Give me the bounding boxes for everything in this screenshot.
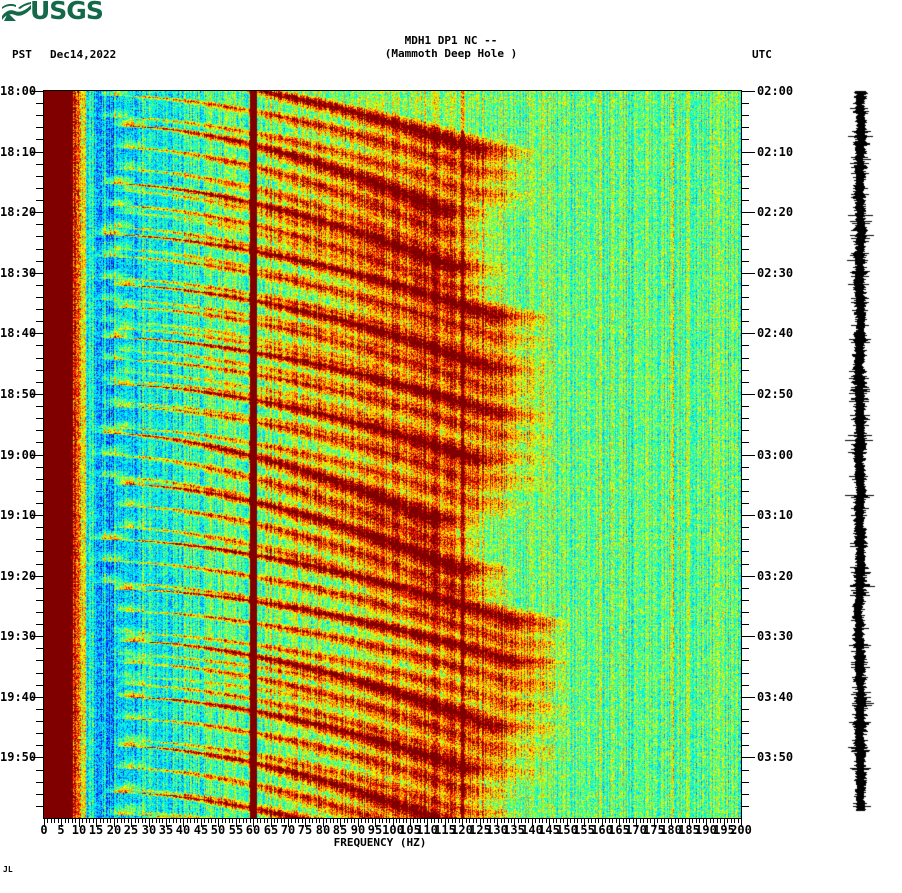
left-axis-minor-tick: [36, 794, 44, 795]
right-axis-minor-tick: [741, 794, 749, 795]
left-axis-tick-label: 19:30: [0, 630, 28, 642]
frequency-axis-minor-tick: [640, 818, 641, 823]
left-axis-minor-tick: [36, 176, 44, 177]
left-axis-minor-tick: [36, 249, 44, 250]
frequency-axis-minor-tick: [326, 818, 327, 823]
left-axis-minor-tick: [36, 806, 44, 807]
left-axis-minor-tick: [36, 370, 44, 371]
right-axis-minor-tick: [741, 539, 749, 540]
left-axis-minor-tick: [36, 418, 44, 419]
frequency-axis-minor-tick: [86, 818, 87, 823]
left-axis-minor-tick: [36, 624, 44, 625]
right-axis-minor-tick: [741, 358, 749, 359]
right-axis-tick-label: 03:40: [757, 691, 793, 703]
frequency-axis-minor-tick: [65, 818, 66, 823]
left-axis-minor-tick: [36, 612, 44, 613]
frequency-axis-minor-tick: [553, 818, 554, 823]
frequency-axis-minor-tick: [225, 818, 226, 823]
right-axis-major-tick: [741, 455, 755, 456]
right-axis-minor-tick: [741, 770, 749, 771]
right-axis-tick-label: 03:50: [757, 751, 793, 763]
left-axis-tick-label: 18:00: [0, 85, 28, 97]
right-axis-minor-tick: [741, 285, 749, 286]
frequency-axis-tick-label: 200: [727, 824, 755, 836]
frequency-axis-minor-tick: [243, 818, 244, 823]
right-axis-minor-tick: [741, 806, 749, 807]
left-axis-minor-tick: [36, 479, 44, 480]
frequency-axis-minor-tick: [295, 818, 296, 823]
right-axis-tick-label: 03:10: [757, 509, 793, 521]
right-axis-minor-tick: [741, 236, 749, 237]
frequency-axis-minor-tick: [208, 818, 209, 823]
left-axis-minor-tick: [36, 491, 44, 492]
left-axis-minor-tick: [36, 224, 44, 225]
left-axis-minor-tick: [36, 721, 44, 722]
frequency-axis-minor-tick: [187, 818, 188, 823]
left-axis-tick-label: 18:50: [0, 388, 28, 400]
frequency-axis-minor-tick: [361, 818, 362, 823]
right-axis-minor-tick: [741, 673, 749, 674]
frequency-axis-minor-tick: [152, 818, 153, 823]
right-axis-minor-tick: [741, 733, 749, 734]
right-axis-tick-label: 02:20: [757, 206, 793, 218]
frequency-axis-minor-tick: [117, 818, 118, 823]
frequency-axis-minor-tick: [135, 818, 136, 823]
left-axis-tick-label: 19:00: [0, 449, 28, 461]
usgs-wordmark: USGS: [30, 0, 103, 24]
right-axis-major-tick: [741, 152, 755, 153]
left-axis-tick-label: 18:20: [0, 206, 28, 218]
left-axis-minor-tick: [36, 539, 44, 540]
frequency-axis-minor-tick: [121, 818, 122, 823]
right-axis-minor-tick: [741, 406, 749, 407]
frequency-axis-minor-tick: [710, 818, 711, 823]
left-axis-tick-label: 19:50: [0, 751, 28, 763]
left-axis-minor-tick: [36, 297, 44, 298]
frequency-axis-minor-tick: [54, 818, 55, 823]
left-axis-minor-tick: [36, 430, 44, 431]
left-axis-minor-tick: [36, 103, 44, 104]
frequency-axis-minor-tick: [260, 818, 261, 823]
left-axis-minor-tick: [36, 321, 44, 322]
frequency-axis-minor-tick: [501, 818, 502, 823]
right-axis-minor-tick: [741, 624, 749, 625]
usgs-wave-logo-icon: [2, 2, 32, 22]
left-axis-minor-tick: [36, 648, 44, 649]
frequency-axis-minor-tick: [466, 818, 467, 823]
left-axis-minor-tick: [36, 139, 44, 140]
right-axis-minor-tick: [741, 551, 749, 552]
frequency-axis-minor-tick: [312, 818, 313, 823]
right-axis-minor-tick: [741, 176, 749, 177]
right-axis-minor-tick: [741, 321, 749, 322]
right-axis-minor-tick: [741, 345, 749, 346]
seismogram-trace-image: [826, 88, 896, 823]
right-axis-minor-tick: [741, 479, 749, 480]
right-axis-tick-label: 02:00: [757, 85, 793, 97]
frequency-axis-minor-tick: [483, 818, 484, 823]
left-axis-minor-tick: [36, 467, 44, 468]
right-axis-minor-tick: [741, 370, 749, 371]
left-axis-minor-tick: [36, 770, 44, 771]
frequency-axis-minor-tick: [169, 818, 170, 823]
frequency-axis-minor-tick: [103, 818, 104, 823]
axis-top-rule: [43, 90, 742, 91]
frequency-axis-minor-tick: [100, 818, 101, 823]
frequency-axis-minor-tick: [347, 818, 348, 823]
frequency-axis-minor-tick: [156, 818, 157, 823]
frequency-axis-minor-tick: [47, 818, 48, 823]
usgs-logo: USGS: [2, 0, 94, 24]
right-axis-minor-tick: [741, 200, 749, 201]
left-axis-minor-tick: [36, 442, 44, 443]
right-axis-minor-tick: [741, 309, 749, 310]
left-axis-tick-label: 18:10: [0, 146, 28, 158]
right-axis-major-tick: [741, 515, 755, 516]
frequency-axis-minor-tick: [431, 818, 432, 823]
frequency-axis-minor-tick: [309, 818, 310, 823]
frequency-axis-minor-tick: [379, 818, 380, 823]
right-axis-major-tick: [741, 394, 755, 395]
right-axis-major-tick: [741, 333, 755, 334]
left-axis-minor-tick: [36, 685, 44, 686]
right-axis-minor-tick: [741, 249, 749, 250]
right-axis-minor-tick: [741, 491, 749, 492]
right-axis-tick-label: 02:40: [757, 327, 793, 339]
left-axis-tick-label: 18:30: [0, 267, 28, 279]
frequency-axis-minor-tick: [518, 818, 519, 823]
left-axis-minor-tick: [36, 382, 44, 383]
left-axis-minor-tick: [36, 188, 44, 189]
right-axis-minor-tick: [741, 660, 749, 661]
right-axis-minor-tick: [741, 139, 749, 140]
frequency-axis-minor-tick: [68, 818, 69, 823]
right-axis-tick-label: 02:30: [757, 267, 793, 279]
frequency-axis-minor-tick: [274, 818, 275, 823]
left-axis-minor-tick: [36, 673, 44, 674]
frequency-axis-minor-tick: [82, 818, 83, 823]
left-axis-minor-tick: [36, 200, 44, 201]
frequency-axis-minor-tick: [51, 818, 52, 823]
right-axis-minor-tick: [741, 382, 749, 383]
right-axis-major-tick: [741, 697, 755, 698]
right-axis-tick-label: 02:50: [757, 388, 793, 400]
right-axis-tick-label: 03:00: [757, 449, 793, 461]
frequency-axis-minor-tick: [222, 818, 223, 823]
frequency-axis-title: FREQUENCY (HZ): [0, 836, 760, 849]
seismogram-trace: [826, 88, 896, 823]
right-axis-minor-tick: [741, 103, 749, 104]
right-axis-major-tick: [741, 636, 755, 637]
frequency-axis-minor-tick: [291, 818, 292, 823]
left-axis-minor-tick: [36, 406, 44, 407]
right-axis-tick-label: 02:10: [757, 146, 793, 158]
spectrogram-plot: [44, 91, 741, 818]
frequency-axis-minor-tick: [588, 818, 589, 823]
left-axis-tick-label: 19:10: [0, 509, 28, 521]
right-axis-minor-tick: [741, 467, 749, 468]
right-axis-major-tick: [741, 91, 755, 92]
right-axis-tick-label: 03:20: [757, 570, 793, 582]
frequency-axis-minor-tick: [657, 818, 658, 823]
frequency-axis-minor-tick: [675, 818, 676, 823]
frequency-axis-minor-tick: [190, 818, 191, 823]
left-axis-minor-tick: [36, 745, 44, 746]
frequency-axis-minor-tick: [344, 818, 345, 823]
frequency-axis-minor-tick: [257, 818, 258, 823]
right-axis-minor-tick: [741, 418, 749, 419]
right-axis-minor-tick: [741, 261, 749, 262]
frequency-axis-minor-tick: [239, 818, 240, 823]
chart-title: MDH1 DP1 NC --: [0, 34, 902, 47]
left-axis-minor-tick: [36, 564, 44, 565]
right-axis-minor-tick: [741, 527, 749, 528]
left-axis-minor-tick: [36, 358, 44, 359]
right-axis-minor-tick: [741, 600, 749, 601]
chart-subtitle: (Mammoth Deep Hole ): [0, 47, 902, 60]
right-axis-minor-tick: [741, 612, 749, 613]
left-axis-minor-tick: [36, 503, 44, 504]
left-axis-minor-tick: [36, 782, 44, 783]
frequency-axis-minor-tick: [204, 818, 205, 823]
right-axis-minor-tick: [741, 224, 749, 225]
frequency-axis-minor-tick: [138, 818, 139, 823]
left-axis-minor-tick: [36, 660, 44, 661]
left-axis-minor-tick: [36, 709, 44, 710]
right-axis-minor-tick: [741, 188, 749, 189]
frequency-axis-minor-tick: [570, 818, 571, 823]
left-axis-minor-tick: [36, 127, 44, 128]
right-axis-minor-tick: [741, 115, 749, 116]
right-axis-major-tick: [741, 212, 755, 213]
frequency-axis-minor-tick: [727, 818, 728, 823]
right-axis-tick-label: 03:30: [757, 630, 793, 642]
corner-artifact-mark: JL: [3, 866, 13, 874]
left-axis-tick-label: 18:40: [0, 327, 28, 339]
right-axis-minor-tick: [741, 685, 749, 686]
right-axis-minor-tick: [741, 648, 749, 649]
left-axis-minor-tick: [36, 345, 44, 346]
left-axis-minor-tick: [36, 309, 44, 310]
left-axis-minor-tick: [36, 527, 44, 528]
left-axis-minor-tick: [36, 261, 44, 262]
left-axis-minor-tick: [36, 733, 44, 734]
right-axis-major-tick: [741, 273, 755, 274]
frequency-axis-minor-tick: [413, 818, 414, 823]
right-axis-minor-tick: [741, 564, 749, 565]
spectrogram-image: [44, 91, 741, 818]
left-axis-minor-tick: [36, 236, 44, 237]
left-axis-minor-tick: [36, 588, 44, 589]
right-axis-major-tick: [741, 576, 755, 577]
frequency-axis-minor-tick: [692, 818, 693, 823]
frequency-axis-minor-tick: [277, 818, 278, 823]
right-axis-minor-tick: [741, 297, 749, 298]
frequency-axis-minor-tick: [623, 818, 624, 823]
right-axis-minor-tick: [741, 127, 749, 128]
frequency-axis-minor-tick: [330, 818, 331, 823]
left-axis-minor-tick: [36, 164, 44, 165]
right-axis-minor-tick: [741, 721, 749, 722]
frequency-axis-minor-tick: [396, 818, 397, 823]
right-axis-minor-tick: [741, 430, 749, 431]
left-axis-minor-tick: [36, 115, 44, 116]
right-axis-minor-tick: [741, 782, 749, 783]
right-axis-minor-tick: [741, 503, 749, 504]
frequency-axis-minor-tick: [605, 818, 606, 823]
frequency-axis-minor-tick: [173, 818, 174, 823]
right-axis-minor-tick: [741, 709, 749, 710]
right-axis-minor-tick: [741, 745, 749, 746]
right-axis-minor-tick: [741, 588, 749, 589]
left-axis-tick-label: 19:40: [0, 691, 28, 703]
left-axis-minor-tick: [36, 551, 44, 552]
left-axis-tick-label: 19:20: [0, 570, 28, 582]
frequency-axis-minor-tick: [535, 818, 536, 823]
right-axis-minor-tick: [741, 442, 749, 443]
left-axis-minor-tick: [36, 600, 44, 601]
right-axis-minor-tick: [741, 164, 749, 165]
left-axis-minor-tick: [36, 285, 44, 286]
right-axis-major-tick: [741, 757, 755, 758]
frequency-axis-minor-tick: [448, 818, 449, 823]
frequency-axis-minor-tick: [365, 818, 366, 823]
